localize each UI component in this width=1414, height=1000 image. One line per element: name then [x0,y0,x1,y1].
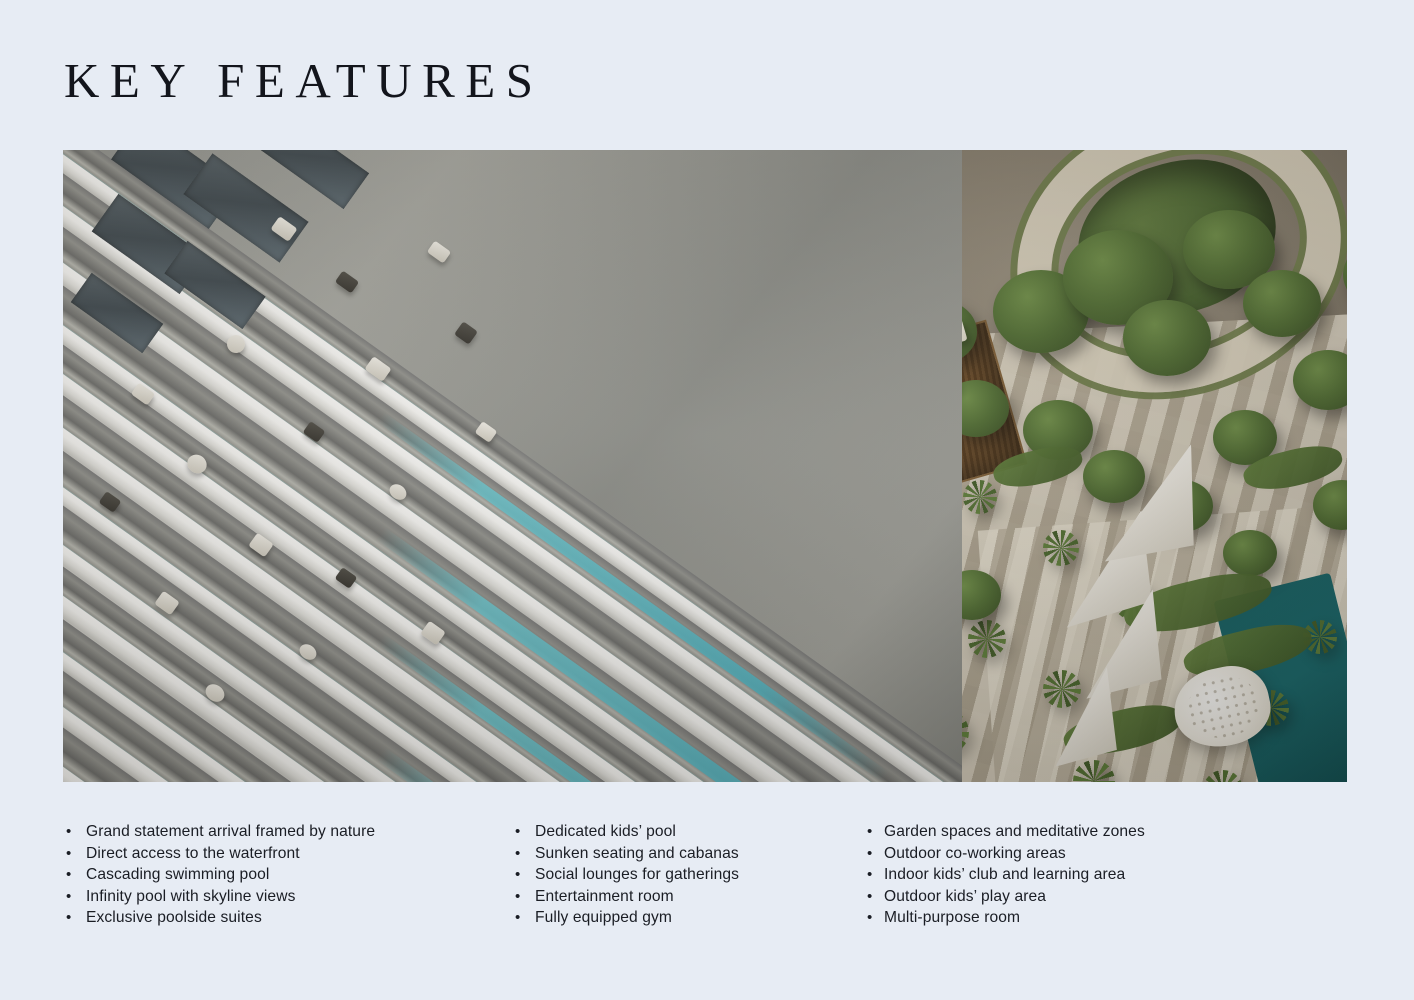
bullet-icon: • [66,907,86,929]
feature-item: •Entertainment room [515,886,739,908]
feature-item: •Dedicated kids’ pool [515,821,739,843]
feature-text: Outdoor kids’ play area [884,886,1046,908]
feature-item: •Social lounges for gatherings [515,864,739,886]
bullet-icon: • [515,821,535,843]
bullet-icon: • [515,864,535,886]
feature-text: Dedicated kids’ pool [535,821,676,843]
bullet-icon: • [515,843,535,865]
bullet-icon: • [66,886,86,908]
feature-text: Direct access to the waterfront [86,843,300,865]
feature-text: Garden spaces and meditative zones [884,821,1145,843]
feature-item: •Grand statement arrival framed by natur… [66,821,375,843]
feature-item: •Garden spaces and meditative zones [867,821,1145,843]
features-column-3: •Garden spaces and meditative zones•Outd… [867,821,1145,929]
feature-text: Cascading swimming pool [86,864,269,886]
bullet-icon: • [867,821,884,843]
feature-item: •Fully equipped gym [515,907,739,929]
feature-text: Infinity pool with skyline views [86,886,295,908]
feature-item: •Outdoor co-working areas [867,843,1145,865]
bullet-icon: • [515,886,535,908]
feature-text: Grand statement arrival framed by nature [86,821,375,843]
hero-image [63,150,1347,782]
feature-item: •Sunken seating and cabanas [515,843,739,865]
residential-tower-balconies [63,150,962,782]
bullet-icon: • [515,907,535,929]
features-column-1: •Grand statement arrival framed by natur… [66,821,375,929]
feature-text: Exclusive poolside suites [86,907,262,929]
bullet-icon: • [66,864,86,886]
bullet-icon: • [867,907,884,929]
feature-item: •Indoor kids’ club and learning area [867,864,1145,886]
feature-text: Entertainment room [535,886,674,908]
feature-text: Outdoor co-working areas [884,843,1066,865]
aerial-render-scene [63,150,1347,782]
page-title: KEY FEATURES [64,56,543,105]
feature-item: •Cascading swimming pool [66,864,375,886]
feature-item: •Direct access to the waterfront [66,843,375,865]
feature-text: Social lounges for gatherings [535,864,739,886]
bullet-icon: • [867,843,884,865]
feature-text: Indoor kids’ club and learning area [884,864,1125,886]
bullet-icon: • [66,843,86,865]
feature-item: •Infinity pool with skyline views [66,886,375,908]
feature-text: Multi-purpose room [884,907,1020,929]
bullet-icon: • [66,821,86,843]
feature-text: Fully equipped gym [535,907,672,929]
feature-item: •Multi-purpose room [867,907,1145,929]
feature-item: •Exclusive poolside suites [66,907,375,929]
feature-text: Sunken seating and cabanas [535,843,739,865]
key-features-list: •Grand statement arrival framed by natur… [0,821,1414,961]
bullet-icon: • [867,864,884,886]
bullet-icon: • [867,886,884,908]
feature-item: •Outdoor kids’ play area [867,886,1145,908]
features-column-2: •Dedicated kids’ pool•Sunken seating and… [515,821,739,929]
